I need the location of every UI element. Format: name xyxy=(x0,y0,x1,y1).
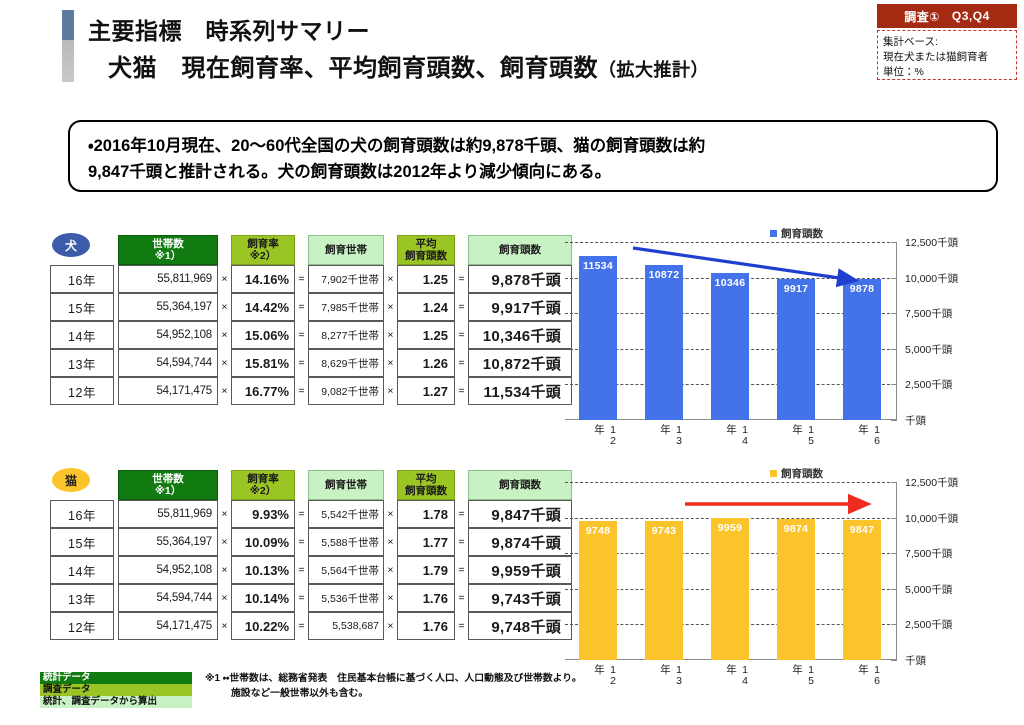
dog-row-1-keeping: 7,985千世帯 xyxy=(308,293,384,321)
legend-item-survey-data: 調査データ xyxy=(40,684,192,696)
cat-row-1-households: 55,364,197 xyxy=(118,528,218,556)
dog-row-0-op-mult-2: × xyxy=(384,265,397,293)
cat-row-1-op-eq-1: = xyxy=(295,528,308,556)
page-subtitle-note: （拡大推計） xyxy=(598,60,709,80)
dog-row-4-avg: 1.27 xyxy=(397,377,455,405)
dog-row-2-total: 10,346千頭 xyxy=(468,321,572,349)
cat-row-4-avg: 1.76 xyxy=(397,612,455,640)
dog-row-3-op-eq-2: = xyxy=(455,349,468,377)
table-row: 12年 54,171,475 × 10.22% = 5,538,687 × 1.… xyxy=(50,612,572,640)
dog-row-3-total: 10,872千頭 xyxy=(468,349,572,377)
x-axis-label: 12年 xyxy=(592,424,619,446)
cat-row-2-op-mult-2: × xyxy=(384,556,397,584)
cat-row-4-households: 54,171,475 xyxy=(118,612,218,640)
cat-row-3-op-mult-2: × xyxy=(384,584,397,612)
cat-row-3-keeping: 5,536千世帯 xyxy=(308,584,384,612)
footnote-line-1: ※1 ・・世帯数は、総務省発表 住民基本台帳に基づく人口、人口動態及び世帯数より… xyxy=(205,673,582,684)
dog-row-0-op-mult-1: × xyxy=(218,265,231,293)
spacer-op xyxy=(384,235,397,265)
footnote: ※1 ・・世帯数は、総務省発表 住民基本台帳に基づく人口、人口動態及び世帯数より… xyxy=(205,672,625,701)
dog-row-2-avg: 1.25 xyxy=(397,321,455,349)
cat-row-0-rate: 9.93% xyxy=(231,500,295,528)
dog-row-3-year: 13年 xyxy=(50,349,114,377)
dog-row-4-op-eq-2: = xyxy=(455,377,468,405)
x-axis-label: 16年 xyxy=(856,664,883,686)
survey-note-line-3: 単位：% xyxy=(883,65,1011,80)
x-axis-label: 14年 xyxy=(724,424,751,446)
survey-note-line-1: 集計ベース: xyxy=(883,35,1011,50)
bar-value-label: 9874 xyxy=(777,523,815,535)
cat-row-1-op-eq-2: = xyxy=(455,528,468,556)
dog-row-4-year: 12年 xyxy=(50,377,114,405)
dog-row-1-households: 55,364,197 xyxy=(118,293,218,321)
y-axis-label: 5,000千頭 xyxy=(905,582,952,597)
dog-legend-label: 飼育頭数 xyxy=(781,226,823,241)
x-axis-label: 13年 xyxy=(658,424,685,446)
cat-header-total: 飼育頭数 xyxy=(468,470,572,500)
cat-row-3-rate: 10.14% xyxy=(231,584,295,612)
spacer-op xyxy=(218,470,231,500)
cat-row-1-year: 15年 xyxy=(50,528,114,556)
cat-bar-chart: 飼育頭数 千頭2,500千頭5,000千頭7,500千頭10,000千頭12,5… xyxy=(565,478,965,678)
page-subtitle: 犬猫 現在飼育率、平均飼育頭数、飼育頭数（拡大推計） xyxy=(108,48,709,83)
bar-value-label: 11534 xyxy=(579,260,617,272)
dog-row-4-op-mult-1: × xyxy=(218,377,231,405)
bar-value-label: 9917 xyxy=(777,283,815,295)
dog-row-2-op-mult-1: × xyxy=(218,321,231,349)
dog-row-0-op-eq-1: = xyxy=(295,265,308,293)
y-axis-label: 2,500千頭 xyxy=(905,377,952,392)
dog-header-rate-label: 飼育率 xyxy=(247,238,279,250)
dog-row-2-op-eq-2: = xyxy=(455,321,468,349)
x-axis-label: 16年 xyxy=(856,424,883,446)
bar: 10872 xyxy=(645,265,683,420)
bar-value-label: 9847 xyxy=(843,524,881,536)
dog-row-0-households: 55,811,969 xyxy=(118,265,218,293)
bar-value-label: 9959 xyxy=(711,522,749,534)
gridline xyxy=(565,242,895,243)
cat-header-rate-label: 飼育率 xyxy=(247,473,279,485)
table-row: 15年 55,364,197 × 10.09% = 5,588千世帯 × 1.7… xyxy=(50,528,572,556)
dog-species-badge: 犬 xyxy=(52,233,90,257)
dog-bar-chart: 飼育頭数 千頭2,500千頭5,000千頭7,500千頭10,000千頭12,5… xyxy=(565,238,965,438)
survey-badge-label: 調査① xyxy=(904,8,940,25)
table-row: 14年 54,952,108 × 15.06% = 8,277千世帯 × 1.2… xyxy=(50,321,572,349)
cat-row-0-total: 9,847千頭 xyxy=(468,500,572,528)
y-axis-label: 7,500千頭 xyxy=(905,546,952,561)
cat-legend-swatch-icon xyxy=(770,470,777,477)
cat-row-1-avg: 1.77 xyxy=(397,528,455,556)
dog-row-4-op-eq-1: = xyxy=(295,377,308,405)
dog-row-0-rate: 14.16% xyxy=(231,265,295,293)
cat-header-avg-note: 飼育頭数 xyxy=(405,485,447,497)
dog-table-header-row: 世帯数 ※1） 飼育率 ※2） 飼育世帯 平均 飼育頭数 飼育頭数 xyxy=(50,235,572,265)
dog-row-2-rate: 15.06% xyxy=(231,321,295,349)
survey-badge-questions: Q3,Q4 xyxy=(952,9,990,23)
cat-row-1-op-mult-2: × xyxy=(384,528,397,556)
bar: 9878 xyxy=(843,279,881,420)
dog-row-4-total: 11,534千頭 xyxy=(468,377,572,405)
dog-row-0-op-eq-2: = xyxy=(455,265,468,293)
cat-row-0-households: 55,811,969 xyxy=(118,500,218,528)
cat-row-4-keeping: 5,538,687 xyxy=(308,612,384,640)
cat-row-3-households: 54,594,744 xyxy=(118,584,218,612)
dog-row-1-op-eq-2: = xyxy=(455,293,468,321)
dog-chart-plot: 千頭2,500千頭5,000千頭7,500千頭10,000千頭12,500千頭1… xyxy=(565,242,895,420)
dog-header-avg: 平均 飼育頭数 xyxy=(397,235,455,265)
dog-row-0-keeping: 7,902千世帯 xyxy=(308,265,384,293)
table-row: 14年 54,952,108 × 10.13% = 5,564千世帯 × 1.7… xyxy=(50,556,572,584)
bar-value-label: 9743 xyxy=(645,525,683,537)
cat-row-2-keeping: 5,564千世帯 xyxy=(308,556,384,584)
dog-row-1-op-mult-2: × xyxy=(384,293,397,321)
cat-row-2-op-eq-2: = xyxy=(455,556,468,584)
dog-row-1-rate: 14.42% xyxy=(231,293,295,321)
cat-row-0-avg: 1.78 xyxy=(397,500,455,528)
cat-legend-label: 飼育頭数 xyxy=(781,466,823,481)
bar: 9959 xyxy=(711,518,749,660)
dog-row-1-op-mult-1: × xyxy=(218,293,231,321)
cat-species-badge: 猫 xyxy=(52,468,90,492)
cat-row-2-op-eq-1: = xyxy=(295,556,308,584)
cat-header-households: 世帯数 ※1） xyxy=(118,470,218,500)
table-row: 16年 55,811,969 × 9.93% = 5,542千世帯 × 1.78… xyxy=(50,500,572,528)
dog-row-3-op-mult-2: × xyxy=(384,349,397,377)
bar: 9748 xyxy=(579,521,617,660)
summary-line-1: ・2016年10月現在、20～60代全国の犬の飼育頭数は約9,878千頭、猫の飼… xyxy=(88,134,978,160)
cat-row-1-rate: 10.09% xyxy=(231,528,295,556)
cat-row-3-op-mult-1: × xyxy=(218,584,231,612)
cat-chart-plot: 千頭2,500千頭5,000千頭7,500千頭10,000千頭12,500千頭9… xyxy=(565,482,895,660)
dog-row-3-households: 54,594,744 xyxy=(118,349,218,377)
dog-row-2-keeping: 8,277千世帯 xyxy=(308,321,384,349)
gridline xyxy=(565,482,895,483)
cat-row-2-rate: 10.13% xyxy=(231,556,295,584)
page-header: 主要指標 時系列サマリー 犬猫 現在飼育率、平均飼育頭数、飼育頭数（拡大推計） … xyxy=(0,0,1024,100)
spacer-op xyxy=(295,235,308,265)
bar: 11534 xyxy=(579,256,617,420)
cat-row-2-year: 14年 xyxy=(50,556,114,584)
bar: 9847 xyxy=(843,520,881,660)
table-row: 16年 55,811,969 × 14.16% = 7,902千世帯 × 1.2… xyxy=(50,265,572,293)
cat-row-4-total: 9,748千頭 xyxy=(468,612,572,640)
bar-value-label: 9878 xyxy=(843,283,881,295)
dog-table-section: 犬 世帯数 ※1） 飼育率 ※2） 飼育世帯 平均 飼育頭数 飼育頭数 xyxy=(50,235,572,405)
dog-chart-legend: 飼育頭数 xyxy=(770,226,823,241)
dog-header-keeping: 飼育世帯 xyxy=(308,235,384,265)
cat-header-avg-label: 平均 xyxy=(416,473,437,485)
dog-row-1-year: 15年 xyxy=(50,293,114,321)
dog-header-households-label: 世帯数 xyxy=(152,238,184,250)
cat-row-1-keeping: 5,588千世帯 xyxy=(308,528,384,556)
dog-row-2-year: 14年 xyxy=(50,321,114,349)
spacer-op xyxy=(455,470,468,500)
summary-line-2: 9,847千頭と推計される。犬の飼育頭数は2012年より減少傾向にある。 xyxy=(88,160,978,186)
y-axis-label: 千頭 xyxy=(905,413,926,428)
x-axis-label: 15年 xyxy=(790,424,817,446)
dog-row-3-rate: 15.81% xyxy=(231,349,295,377)
dog-header-households-note: ※1） xyxy=(155,250,182,262)
dog-row-4-rate: 16.77% xyxy=(231,377,295,405)
x-axis-label: 14年 xyxy=(724,664,751,686)
dog-row-3-op-eq-1: = xyxy=(295,349,308,377)
dog-row-0-total: 9,878千頭 xyxy=(468,265,572,293)
spacer-op xyxy=(295,470,308,500)
dog-header-avg-note: 飼育頭数 xyxy=(405,250,447,262)
bar-value-label: 10346 xyxy=(711,277,749,289)
dog-row-3-op-mult-1: × xyxy=(218,349,231,377)
cat-row-0-op-eq-1: = xyxy=(295,500,308,528)
bar: 9743 xyxy=(645,521,683,660)
y-axis-label: 2,500千頭 xyxy=(905,617,952,632)
survey-badge: 調査① Q3,Q4 xyxy=(877,4,1017,28)
dog-row-3-avg: 1.26 xyxy=(397,349,455,377)
dog-row-0-year: 16年 xyxy=(50,265,114,293)
dog-row-2-op-eq-1: = xyxy=(295,321,308,349)
y-axis-label: 千頭 xyxy=(905,653,926,668)
spacer-op xyxy=(455,235,468,265)
cat-header-rate: 飼育率 ※2） xyxy=(231,470,295,500)
dog-header-households: 世帯数 ※1） xyxy=(118,235,218,265)
bar: 10346 xyxy=(711,273,749,420)
y-axis xyxy=(896,482,897,660)
table-row: 12年 54,171,475 × 16.77% = 9,082千世帯 × 1.2… xyxy=(50,377,572,405)
cat-header-rate-note: ※2） xyxy=(250,485,277,497)
dog-row-0-avg: 1.25 xyxy=(397,265,455,293)
cat-table-header-row: 世帯数 ※1） 飼育率 ※2） 飼育世帯 平均 飼育頭数 飼育頭数 xyxy=(50,470,572,500)
x-axis-label: 13年 xyxy=(658,664,685,686)
table-row: 15年 55,364,197 × 14.42% = 7,985千世帯 × 1.2… xyxy=(50,293,572,321)
cat-row-0-year: 16年 xyxy=(50,500,114,528)
cat-row-4-rate: 10.22% xyxy=(231,612,295,640)
cat-row-4-op-eq-2: = xyxy=(455,612,468,640)
cat-header-households-label: 世帯数 xyxy=(152,473,184,485)
spacer-op xyxy=(384,470,397,500)
y-axis xyxy=(896,242,897,420)
dog-row-1-avg: 1.24 xyxy=(397,293,455,321)
y-axis-label: 10,000千頭 xyxy=(905,271,958,286)
cat-row-3-op-eq-2: = xyxy=(455,584,468,612)
dog-row-3-keeping: 8,629千世帯 xyxy=(308,349,384,377)
cat-row-4-op-mult-2: × xyxy=(384,612,397,640)
dog-header-rate: 飼育率 ※2） xyxy=(231,235,295,265)
cat-chart-legend: 飼育頭数 xyxy=(770,466,823,481)
dog-row-4-op-mult-2: × xyxy=(384,377,397,405)
cat-row-2-avg: 1.79 xyxy=(397,556,455,584)
dog-row-2-op-mult-2: × xyxy=(384,321,397,349)
dog-row-1-total: 9,917千頭 xyxy=(468,293,572,321)
cat-table: 世帯数 ※1） 飼育率 ※2） 飼育世帯 平均 飼育頭数 飼育頭数 16年 55… xyxy=(50,470,572,640)
survey-base-note: 集計ベース: 現在犬または猫飼育者 単位：% xyxy=(877,30,1017,80)
y-axis-tick xyxy=(891,420,897,421)
x-axis-label: 15年 xyxy=(790,664,817,686)
bar: 9874 xyxy=(777,519,815,660)
dog-row-2-households: 54,952,108 xyxy=(118,321,218,349)
cat-row-2-total: 9,959千頭 xyxy=(468,556,572,584)
survey-note-line-2: 現在犬または猫飼育者 xyxy=(883,50,1011,65)
cat-table-section: 猫 世帯数 ※1） 飼育率 ※2） 飼育世帯 平均 飼育頭数 飼育頭数 xyxy=(50,470,572,640)
y-axis-label: 5,000千頭 xyxy=(905,342,952,357)
cat-row-3-op-eq-1: = xyxy=(295,584,308,612)
cat-row-3-total: 9,743千頭 xyxy=(468,584,572,612)
y-axis-label: 10,000千頭 xyxy=(905,511,958,526)
cat-row-2-households: 54,952,108 xyxy=(118,556,218,584)
bar-value-label: 9748 xyxy=(579,525,617,537)
summary-callout: ・2016年10月現在、20～60代全国の犬の飼育頭数は約9,878千頭、猫の飼… xyxy=(68,120,998,192)
cat-row-4-op-eq-1: = xyxy=(295,612,308,640)
cat-row-2-op-mult-1: × xyxy=(218,556,231,584)
footnote-line-2: 施設など一般世帯以外も含む。 xyxy=(205,687,625,702)
page-title: 主要指標 時系列サマリー xyxy=(88,12,370,46)
legend-item-calculated-data: 統計、調査データから算出 xyxy=(40,696,192,708)
dog-header-rate-note: ※2） xyxy=(250,250,277,262)
dog-header-avg-label: 平均 xyxy=(416,238,437,250)
cat-row-0-op-mult-2: × xyxy=(384,500,397,528)
cat-header-keeping: 飼育世帯 xyxy=(308,470,384,500)
cat-row-3-year: 13年 xyxy=(50,584,114,612)
y-axis-tick xyxy=(891,660,897,661)
table-row: 13年 54,594,744 × 15.81% = 8,629千世帯 × 1.2… xyxy=(50,349,572,377)
cat-header-households-note: ※1） xyxy=(155,485,182,497)
dog-header-total: 飼育頭数 xyxy=(468,235,572,265)
cat-row-0-keeping: 5,542千世帯 xyxy=(308,500,384,528)
cat-row-0-op-eq-2: = xyxy=(455,500,468,528)
dog-table: 世帯数 ※1） 飼育率 ※2） 飼育世帯 平均 飼育頭数 飼育頭数 16年 55… xyxy=(50,235,572,405)
y-axis-label: 12,500千頭 xyxy=(905,235,958,250)
page-subtitle-main: 犬猫 現在飼育率、平均飼育頭数、飼育頭数 xyxy=(108,55,598,82)
bar-value-label: 10872 xyxy=(645,269,683,281)
cat-row-3-avg: 1.76 xyxy=(397,584,455,612)
cat-row-4-year: 12年 xyxy=(50,612,114,640)
dog-row-1-op-eq-1: = xyxy=(295,293,308,321)
title-accent-bar xyxy=(62,10,74,82)
y-axis-label: 7,500千頭 xyxy=(905,306,952,321)
footer-legend: 統計データ 調査データ 統計、調査データから算出 xyxy=(40,672,192,708)
y-axis-label: 12,500千頭 xyxy=(905,475,958,490)
cat-header-avg: 平均 飼育頭数 xyxy=(397,470,455,500)
legend-item-statistical-data: 統計データ xyxy=(40,672,192,684)
dog-row-4-households: 54,171,475 xyxy=(118,377,218,405)
cat-row-1-op-mult-1: × xyxy=(218,528,231,556)
dog-row-4-keeping: 9,082千世帯 xyxy=(308,377,384,405)
cat-row-1-total: 9,874千頭 xyxy=(468,528,572,556)
bar: 9917 xyxy=(777,279,815,420)
spacer-op xyxy=(218,235,231,265)
cat-row-0-op-mult-1: × xyxy=(218,500,231,528)
table-row: 13年 54,594,744 × 10.14% = 5,536千世帯 × 1.7… xyxy=(50,584,572,612)
dog-legend-swatch-icon xyxy=(770,230,777,237)
cat-row-4-op-mult-1: × xyxy=(218,612,231,640)
